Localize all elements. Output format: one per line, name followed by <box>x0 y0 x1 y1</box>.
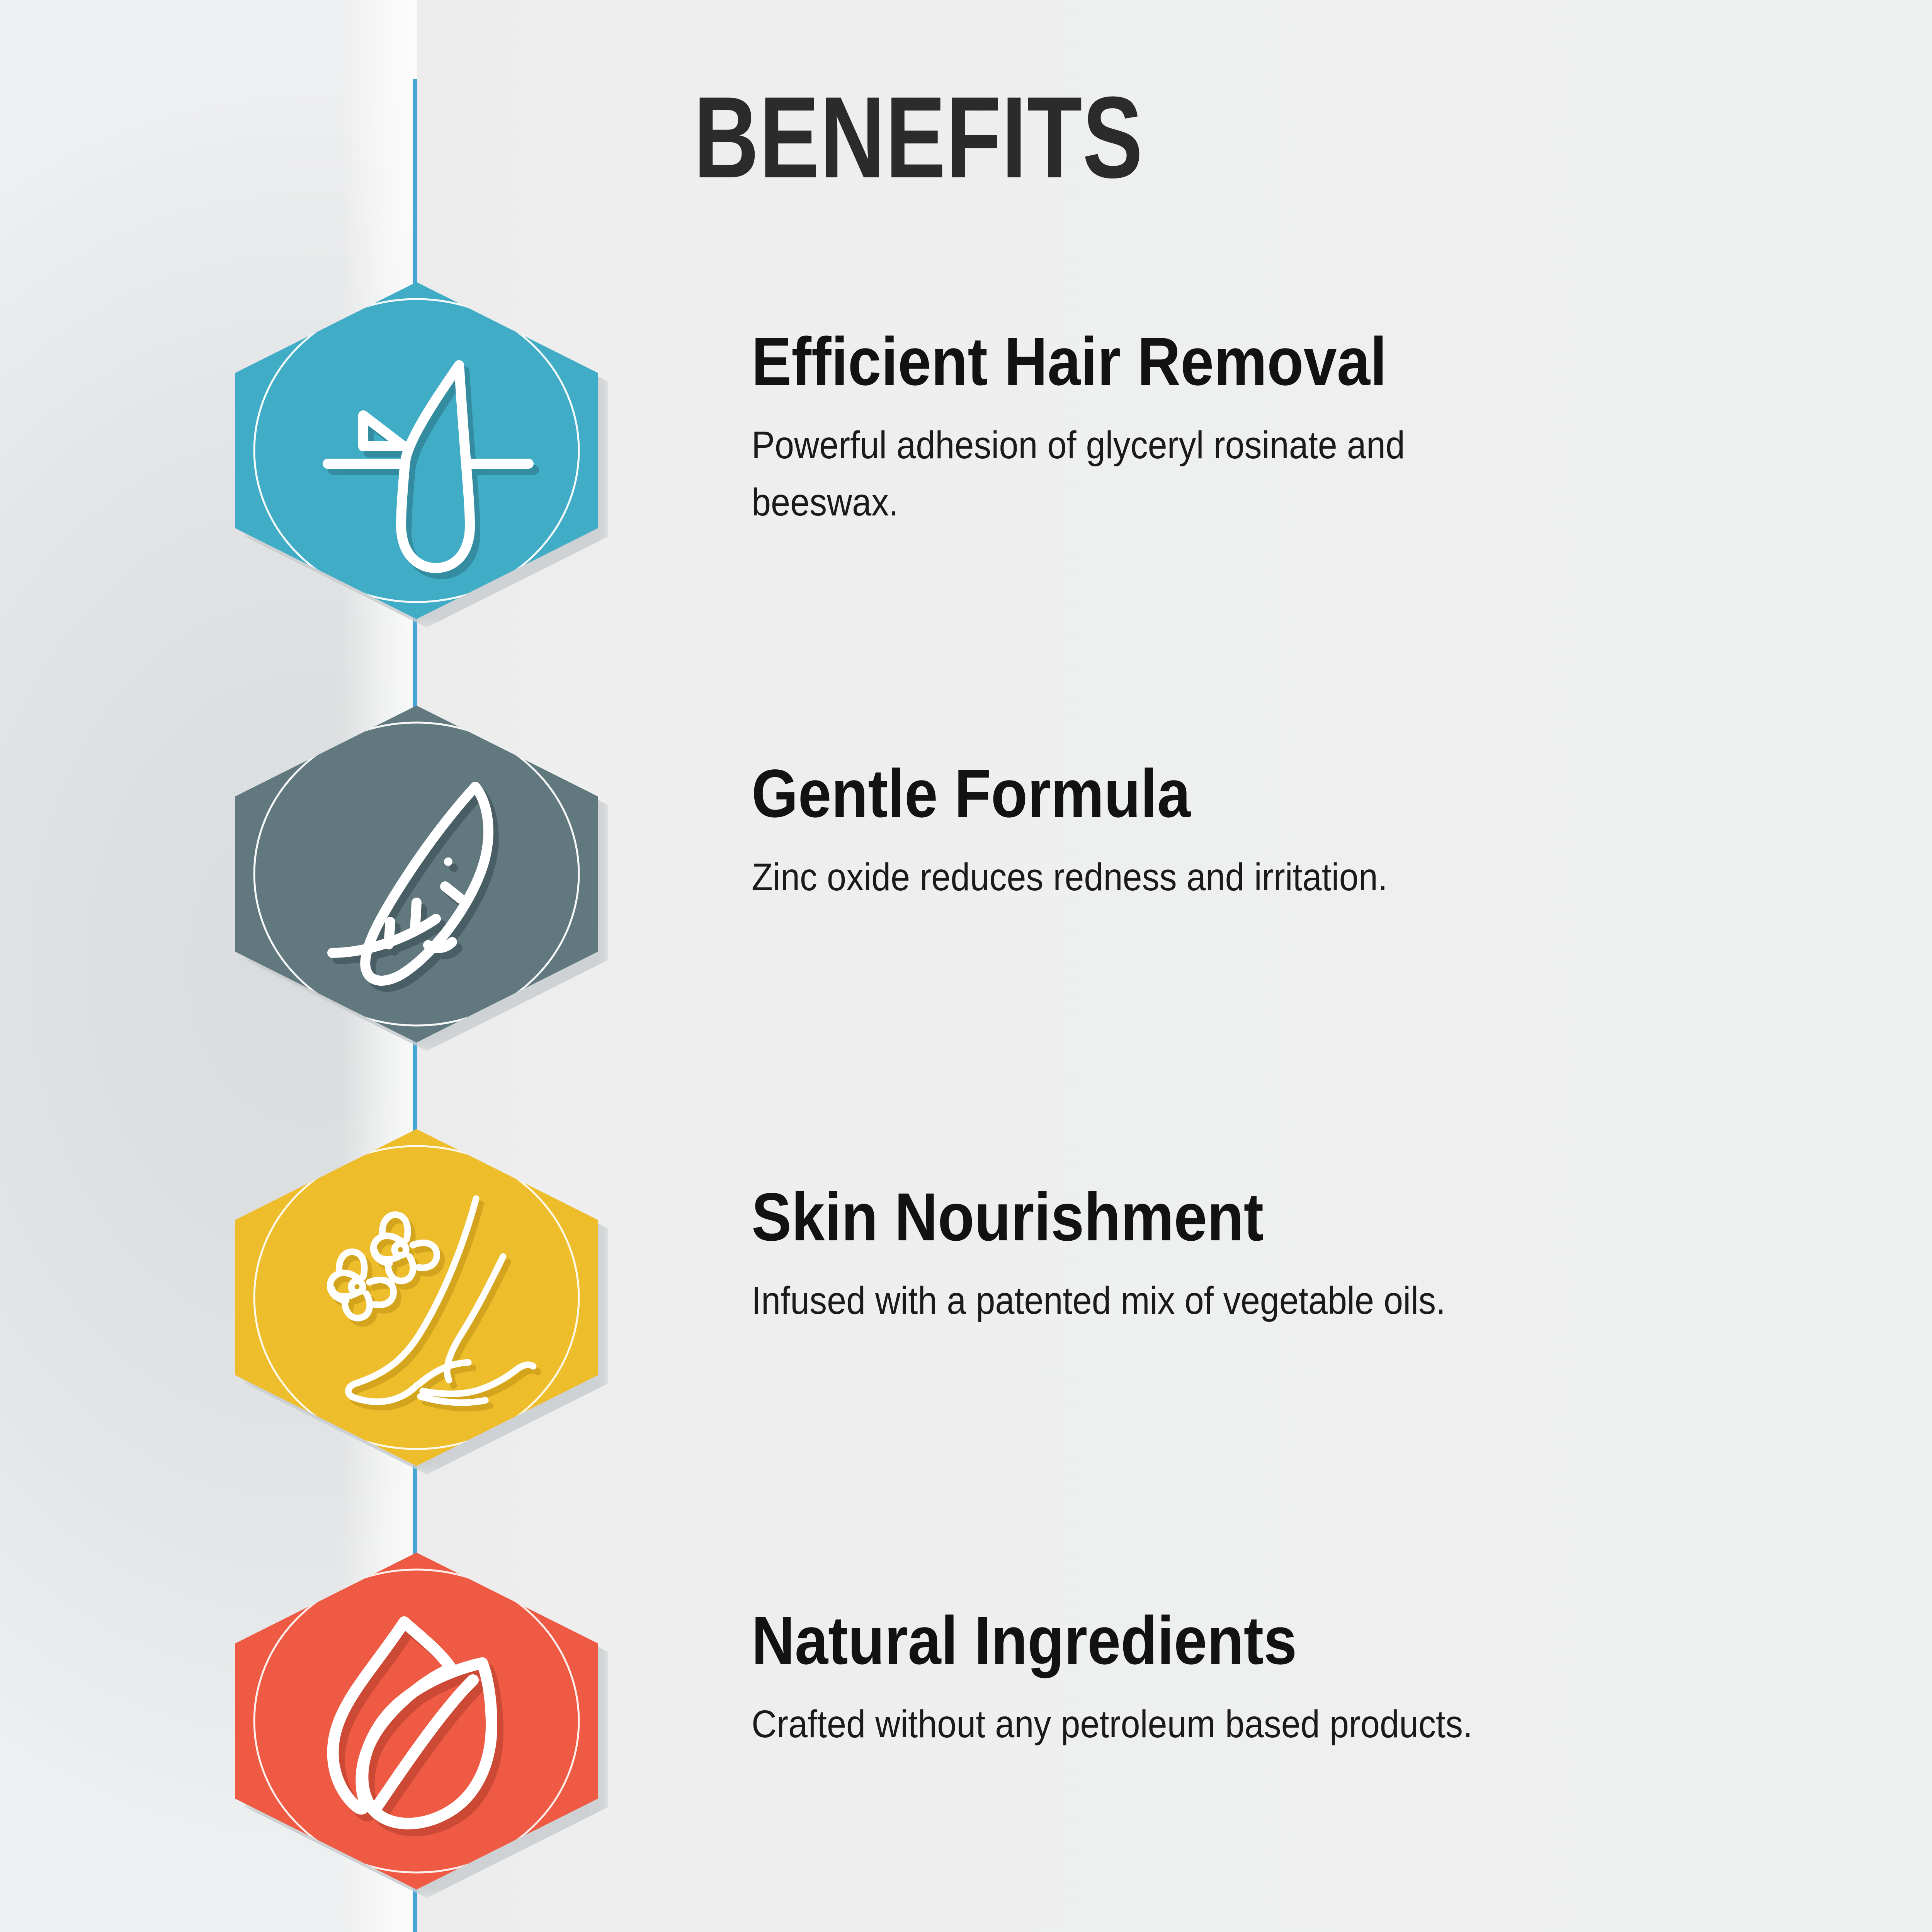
benefit-heading: Gentle Formula <box>752 760 1373 828</box>
benefit-icon-badge <box>235 1129 598 1466</box>
benefit-body: Infused with a patented mix of vegetable… <box>752 1272 1446 1329</box>
benefit-body: Zinc oxide reduces redness and irritatio… <box>752 849 1388 906</box>
benefit-heading: Efficient Hair Removal <box>752 328 1479 396</box>
benefit-body: Crafted without any petroleum based prod… <box>752 1696 1473 1753</box>
benefit-heading: Skin Nourishment <box>752 1183 1430 1251</box>
benefit-text-block: Skin Nourishment Infused with a patented… <box>752 1183 1523 1329</box>
benefit-icon-badge <box>235 282 598 619</box>
page-title: BENEFITS <box>694 79 1143 195</box>
benefit-body: Powerful adhesion of glyceryl rosinate a… <box>752 417 1496 531</box>
benefit-heading: Natural Ingredients <box>752 1607 1457 1675</box>
infographic-canvas: BENEFITS <box>0 0 1932 1932</box>
benefit-icon-badge <box>235 1553 598 1889</box>
benefit-icon-badge <box>235 706 598 1043</box>
benefit-text-block: Efficient Hair Removal Powerful adhesion… <box>752 328 1578 531</box>
benefit-text-block: Gentle Formula Zinc oxide reduces rednes… <box>752 760 1458 906</box>
benefit-text-block: Natural Ingredients Crafted without any … <box>752 1607 1553 1753</box>
